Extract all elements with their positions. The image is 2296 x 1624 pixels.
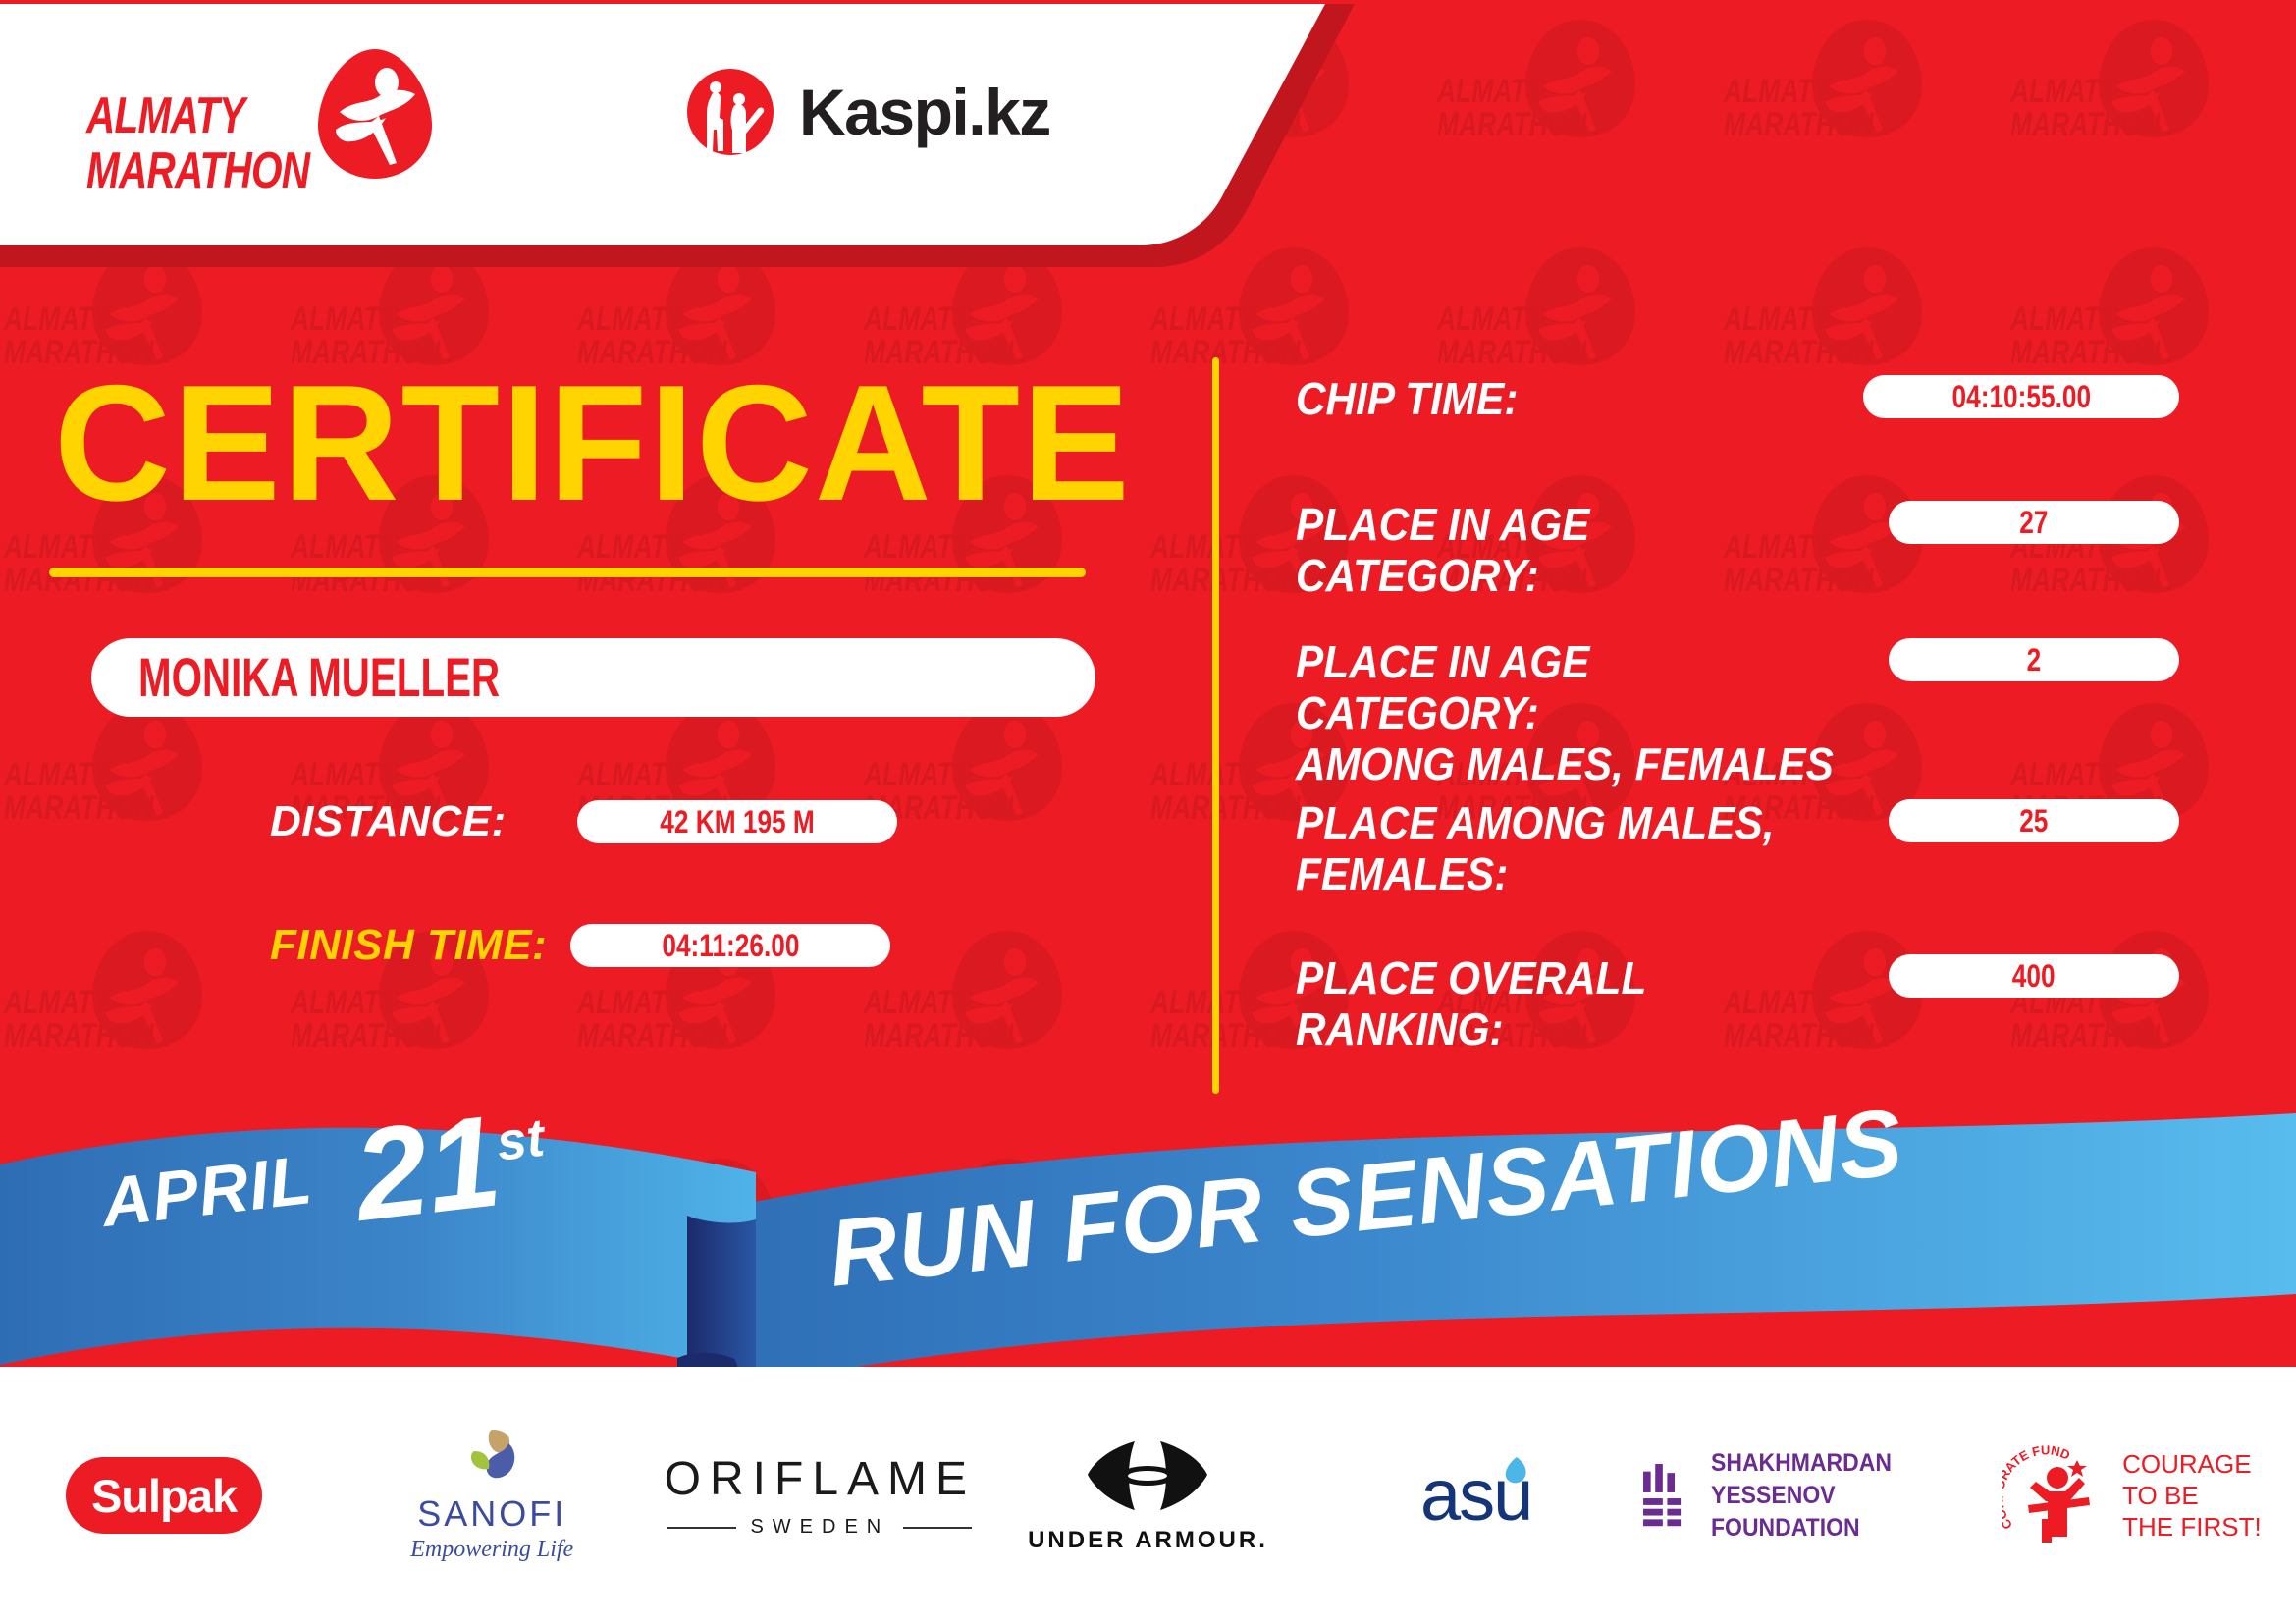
asu-droplet-icon <box>1501 1455 1530 1487</box>
finish-time-label: FINISH TIME: <box>270 921 547 970</box>
sanofi-tagline: Empowering Life <box>410 1537 573 1563</box>
courage-logo: CORPORATE FUND COURAGE TO BE THE FIRST! <box>2002 1444 2262 1546</box>
distance-label: DISTANCE: <box>270 797 507 846</box>
place-age-category-gender-value: 2 <box>2027 644 2042 676</box>
sponsor-courage-fund: CORPORATE FUND COURAGE TO BE THE FIRST! <box>1968 1417 2296 1574</box>
chip-time-value: 04:10:55.00 <box>1951 381 2091 412</box>
oriflame-sub-label: SWEDEN <box>750 1516 889 1539</box>
finish-time-value: 04:11:26.00 <box>662 930 799 961</box>
place-age-category-value: 27 <box>2019 507 2048 538</box>
almaty-marathon-line1: ALMATY <box>86 90 244 141</box>
sanofi-logo: SANOFI Empowering Life <box>410 1428 573 1563</box>
sponsor-yessenov-foundation: SHAKHMARDAN YESSENOV FOUNDATION <box>1640 1417 1968 1574</box>
chip-time-value-pill: 04:10:55.00 <box>1863 375 2179 418</box>
sponsor-under-armour: UNDER ARMOUR. <box>984 1417 1311 1574</box>
courage-text: COURAGE TO BE THE FIRST! <box>2122 1448 2262 1543</box>
finish-time-row: FINISH TIME: 04:11:26.00 <box>270 921 890 970</box>
ribbon-day-number: 21 <box>347 1088 507 1248</box>
sponsor-sulpak: Sulpak <box>0 1417 328 1574</box>
place-among-gender-label: PLACE AMONG MALES, FEMALES: <box>1296 797 1774 899</box>
sponsor-asu: asu <box>1312 1417 1640 1574</box>
courage-line1: COURAGE <box>2122 1448 2262 1480</box>
distance-value-pill: 42 KM 195 M <box>577 800 897 843</box>
certificate-page: ALMATY MARATHON ALMATY MARATHON <box>0 0 2296 1624</box>
vertical-divider <box>1212 357 1219 1094</box>
chip-time-label: CHIP TIME: <box>1296 373 1518 424</box>
sponsor-strip: Sulpak SANOFI Empowering Life ORIFLAME S… <box>0 1367 2296 1624</box>
top-red-rule <box>0 0 2296 5</box>
yessenov-line1: SHAKHMARDAN YESSENOV <box>1711 1447 1948 1512</box>
place-age-category-value-pill: 27 <box>1889 501 2179 544</box>
distance-value: 42 KM 195 M <box>660 806 815 838</box>
sponsor-sanofi: SANOFI Empowering Life <box>328 1417 656 1574</box>
courage-line3: THE FIRST! <box>2122 1511 2262 1543</box>
result-row-place-age-category: PLACE IN AGE CATEGORY: 27 <box>1296 499 2179 601</box>
kaspi-logo: Kaspi.kz <box>687 69 1050 155</box>
ribbon-day: 21st <box>348 1091 554 1241</box>
participant-name: MONIKA MUELLER <box>138 650 500 705</box>
sanofi-label: SANOFI <box>410 1493 573 1535</box>
place-age-category-gender-label: PLACE IN AGE CATEGORY: AMONG MALES, FEMA… <box>1296 636 1842 789</box>
kaspi-people-icon <box>687 69 774 155</box>
sulpak-label: Sulpak <box>91 1473 237 1519</box>
runner-droplet-icon <box>314 47 436 181</box>
ribbon-day-suffix: st <box>494 1109 547 1172</box>
oriflame-logo: ORIFLAME SWEDEN <box>665 1452 976 1539</box>
sulpak-logo: Sulpak <box>66 1457 262 1534</box>
place-age-category-label: PLACE IN AGE CATEGORY: <box>1296 499 1842 601</box>
kaspi-wordmark: Kaspi.kz <box>799 75 1050 149</box>
sanofi-mark-icon <box>457 1428 526 1487</box>
courage-figure-icon: CORPORATE FUND <box>2002 1444 2109 1546</box>
finish-time-value-pill: 04:11:26.00 <box>570 924 890 967</box>
place-among-gender-value: 25 <box>2019 805 2048 837</box>
place-among-gender-value-pill: 25 <box>1889 799 2179 842</box>
courage-line2: TO BE <box>2122 1480 2262 1511</box>
result-row-place-among-gender: PLACE AMONG MALES, FEMALES: 25 <box>1296 797 2179 899</box>
oriflame-label: ORIFLAME <box>665 1452 976 1506</box>
overall-ranking-value-pill: 400 <box>1889 954 2179 998</box>
asu-logo: asu <box>1420 1459 1531 1532</box>
yessenov-logo: SHAKHMARDAN YESSENOV FOUNDATION <box>1640 1447 1968 1544</box>
almaty-marathon-logo: ALMATY MARATHON <box>86 47 400 185</box>
result-row-overall-ranking: PLACE OVERALL RANKING: 400 <box>1296 952 2179 1055</box>
yessenov-bars-icon <box>1640 1450 1689 1541</box>
sponsor-oriflame: ORIFLAME SWEDEN <box>656 1417 984 1574</box>
under-armour-icon <box>1084 1437 1211 1514</box>
under-armour-label: UNDER ARMOUR. <box>1028 1527 1268 1554</box>
overall-ranking-label: PLACE OVERALL RANKING: <box>1296 952 1842 1055</box>
overall-ranking-value: 400 <box>2012 960 2056 992</box>
title-underline <box>49 568 1086 577</box>
result-row-place-age-category-gender: PLACE IN AGE CATEGORY: AMONG MALES, FEMA… <box>1296 636 2179 789</box>
yessenov-line2: FOUNDATION <box>1711 1512 1948 1544</box>
participant-name-field: MONIKA MUELLER <box>91 638 1095 717</box>
place-age-category-gender-value-pill: 2 <box>1889 638 2179 681</box>
result-row-chip-time: CHIP TIME: 04:10:55.00 <box>1296 373 2179 424</box>
oriflame-sub-row: SWEDEN <box>665 1516 976 1539</box>
under-armour-logo: UNDER ARMOUR. <box>1028 1437 1268 1554</box>
page-title: CERTIFICATE <box>54 369 1132 516</box>
almaty-marathon-line2: MARATHON <box>86 145 309 196</box>
yessenov-text: SHAKHMARDAN YESSENOV FOUNDATION <box>1711 1447 1948 1544</box>
distance-row: DISTANCE: 42 KM 195 M <box>270 797 897 846</box>
oriflame-rule-right <box>903 1527 972 1529</box>
oriflame-rule-left <box>667 1527 736 1529</box>
